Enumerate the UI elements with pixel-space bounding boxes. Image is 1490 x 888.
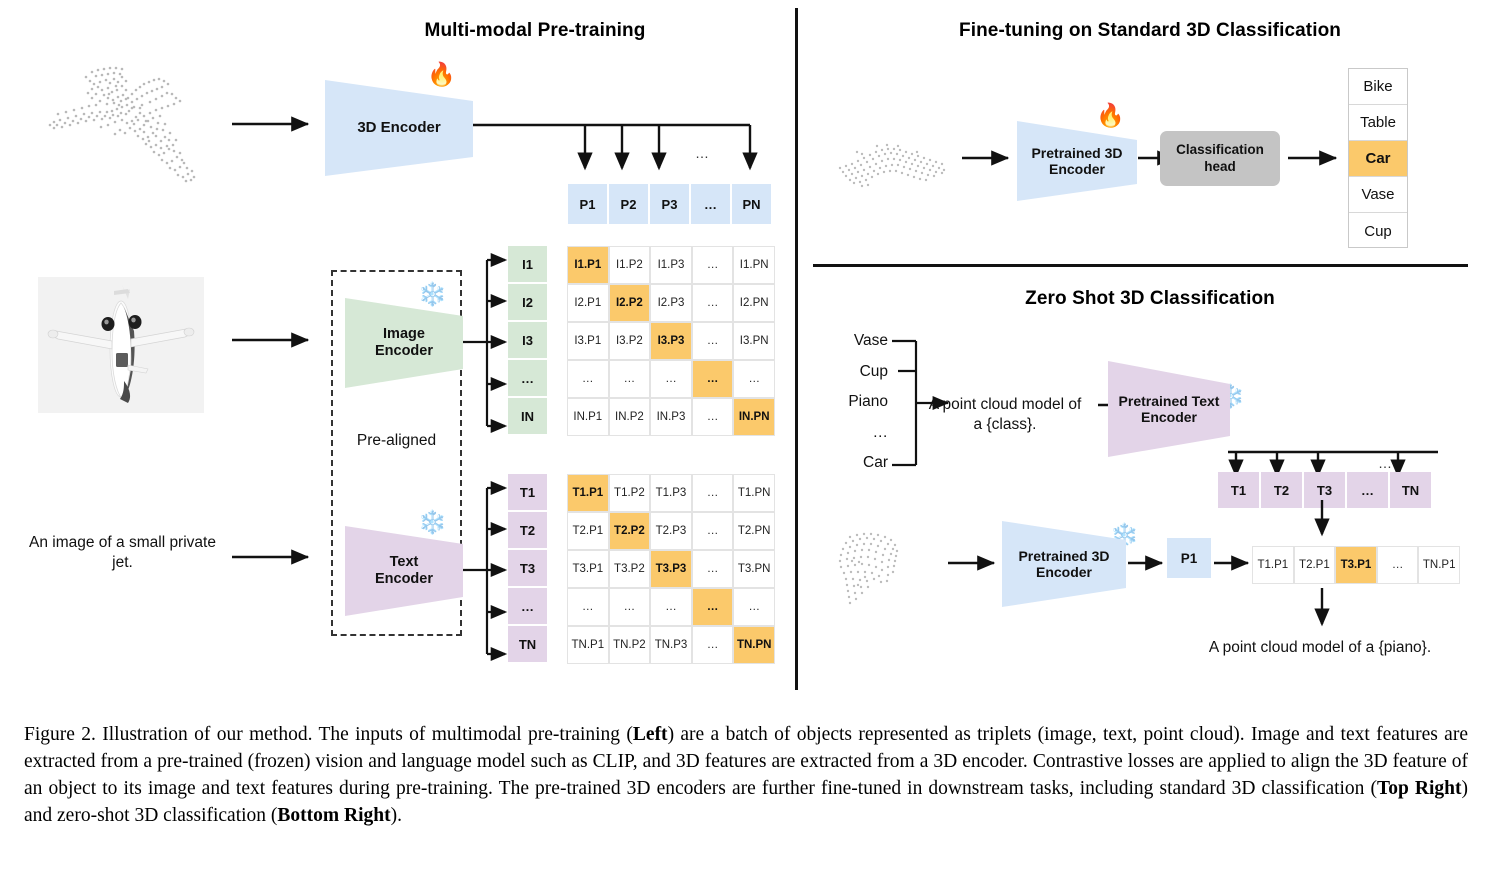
text-feature-4: … [508, 588, 547, 624]
text-similarity-matrix: T1.P1T1.P2T1.P3…T1.PNT2.P1T2.P2T2.P3…T2.… [567, 474, 775, 664]
input-arrows-group [230, 60, 340, 620]
matrix-cell-r2-c5: I2.PN [733, 284, 775, 322]
zeroshot-sim-cell-1: T1.P1 [1252, 546, 1294, 584]
class-option-car[interactable]: Car [1349, 141, 1407, 177]
matrix-cell-r3-c1: I3.P1 [567, 322, 609, 360]
matrix-cell-r4-c3: … [650, 588, 692, 626]
encoder-pretrained-3d-zeroshot[interactable]: Pretrained 3D Encoder [1002, 518, 1126, 610]
zeroshot-class-1: Vase [854, 332, 888, 350]
text-feature-fanout [462, 478, 512, 668]
matrix-cell-r5-c3: TN.P3 [650, 626, 692, 664]
matrix-cell-r1-c4: … [692, 474, 734, 512]
zeroshot-arrow-1 [948, 553, 1004, 573]
encoder-text-pt-label-line1: Pretrained Text [1119, 393, 1220, 409]
zeroshot-result: A point cloud model of a {piano}. [1155, 638, 1485, 658]
p-feature-4: … [691, 184, 730, 224]
matrix-cell-r5-c4: … [692, 626, 734, 664]
piano-point-cloud [832, 525, 937, 610]
encoder-ft-label-line1: Pretrained 3D [1031, 145, 1122, 161]
caption-part-4: ). [391, 805, 402, 826]
matrix-cell-r4-c4: … [692, 360, 734, 398]
matrix-cell-r5-c2: TN.P2 [609, 626, 651, 664]
matrix-cell-r3-c5: I3.PN [733, 322, 775, 360]
text-feature-1: T1 [508, 474, 547, 510]
image-feature-column: I1I2I3…IN [508, 246, 547, 434]
matrix-cell-r3-c3: I3.P3 [650, 322, 692, 360]
p-feature-3: P3 [650, 184, 689, 224]
matrix-cell-r3-c4: … [692, 322, 734, 360]
zeroshot-class-names: VaseCupPiano…Car [826, 332, 888, 472]
matrix-cell-r1-c1: T1.P1 [567, 474, 609, 512]
p-feature-row: P1P2P3…PN [568, 184, 771, 224]
class-option-bike[interactable]: Bike [1349, 69, 1407, 105]
matrix-cell-r1-c5: I1.PN [733, 246, 775, 284]
image-feature-5: IN [508, 398, 547, 434]
matrix-cell-r2-c1: T2.P1 [567, 512, 609, 550]
classification-class-list[interactable]: BikeTableCarVaseCup [1348, 68, 1408, 248]
matrix-cell-r1-c5: T1.PN [733, 474, 775, 512]
image-feature-fanout [462, 250, 512, 440]
class-option-table[interactable]: Table [1349, 105, 1407, 141]
zeroshot-down-arrow-2 [1312, 588, 1332, 634]
matrix-cell-r3-c3: T3.P3 [650, 550, 692, 588]
image-feature-3: I3 [508, 322, 547, 358]
caption-bold-topright: Top Right [1377, 778, 1461, 799]
matrix-cell-r4-c1: … [567, 360, 609, 398]
top-right-arrow-3 [1288, 148, 1344, 168]
caption-bold-left: Left [633, 724, 668, 745]
matrix-cell-r1-c1: I1.P1 [567, 246, 609, 284]
matrix-cell-r5-c5: IN.PN [733, 398, 775, 436]
airplane-point-cloud [22, 50, 242, 210]
encoder-pretrained-3d-finetune[interactable]: Pretrained 3D Encoder [1017, 118, 1137, 204]
matrix-cell-r5-c4: … [692, 398, 734, 436]
zeroshot-prompt-template: A point cloud model of a {class}. [910, 395, 1100, 435]
zeroshot-sim-cell-5: TN.P1 [1418, 546, 1460, 584]
encoder-pretrained-text[interactable]: Pretrained Text Encoder [1108, 358, 1230, 460]
matrix-cell-r5-c3: IN.P3 [650, 398, 692, 436]
matrix-cell-r1-c3: T1.P3 [650, 474, 692, 512]
matrix-cell-r4-c3: … [650, 360, 692, 398]
classification-head-label-line2: head [1204, 159, 1236, 174]
zeroshot-class-5: Car [863, 454, 888, 472]
image-feature-4: … [508, 360, 547, 396]
t-feature-zs-2: T2 [1261, 472, 1302, 508]
encoder-image[interactable]: Image Encoder [345, 295, 463, 391]
p-feature-bus [470, 110, 770, 195]
matrix-cell-r2-c1: I2.P1 [567, 284, 609, 322]
matrix-cell-r2-c4: … [692, 284, 734, 322]
zeroshot-sim-cell-2: T2.P1 [1294, 546, 1336, 584]
p-bus-ellipsis: … [695, 145, 709, 161]
matrix-cell-r2-c4: … [692, 512, 734, 550]
t-feature-zs-1: T1 [1218, 472, 1259, 508]
text-feature-2: T2 [508, 512, 547, 548]
zeroshot-class-4: … [873, 424, 889, 442]
matrix-cell-r5-c2: IN.P2 [609, 398, 651, 436]
t-feature-zs-5: TN [1390, 472, 1431, 508]
figure-caption: Figure 2. Illustration of our method. Th… [24, 722, 1468, 830]
matrix-cell-r3-c2: I3.P2 [609, 322, 651, 360]
bottom-right-panel-title: Zero Shot 3D Classification [830, 288, 1470, 310]
zeroshot-sim-cell-4: … [1377, 546, 1419, 584]
class-option-vase[interactable]: Vase [1349, 177, 1407, 213]
matrix-cell-r3-c2: T3.P2 [609, 550, 651, 588]
class-option-cup[interactable]: Cup [1349, 213, 1407, 249]
p-feature-1: P1 [568, 184, 607, 224]
encoder-image-label-line1: Image [383, 326, 425, 342]
top-right-panel-title: Fine-tuning on Standard 3D Classificatio… [830, 20, 1470, 42]
prompt-line1: A point cloud model of [929, 396, 1082, 413]
matrix-cell-r4-c5: … [733, 588, 775, 626]
encoder-3d-zs-label-line1: Pretrained 3D [1018, 548, 1109, 564]
pre-aligned-label: Pre-aligned [331, 431, 462, 451]
matrix-cell-r5-c1: TN.P1 [567, 626, 609, 664]
encoder-text[interactable]: Text Encoder [345, 523, 463, 619]
encoder-image-label-line2: Encoder [375, 343, 433, 359]
zeroshot-down-arrow-1 [1312, 500, 1332, 544]
classification-head-label-line1: Classification [1176, 142, 1264, 157]
image-similarity-matrix: I1.P1I1.P2I1.P3…I1.PNI2.P1I2.P2I2.P3…I2.… [567, 246, 775, 436]
t-feature-zs-4: … [1347, 472, 1388, 508]
airplane-rendered-image [38, 277, 204, 413]
classification-head[interactable]: Classification head [1160, 131, 1280, 186]
text-feature-3: T3 [508, 550, 547, 586]
matrix-cell-r1-c2: T1.P2 [609, 474, 651, 512]
matrix-cell-r3-c4: … [692, 550, 734, 588]
panel-horizontal-divider [813, 264, 1468, 267]
top-right-arrow-1 [962, 148, 1018, 168]
matrix-cell-r4-c2: … [609, 588, 651, 626]
image-feature-1: I1 [508, 246, 547, 282]
encoder-text-label-line1: Text [390, 554, 419, 570]
matrix-cell-r3-c5: T3.PN [733, 550, 775, 588]
caption-part-1: Figure 2. Illustration of our method. Th… [24, 724, 633, 745]
matrix-cell-r2-c3: T2.P3 [650, 512, 692, 550]
matrix-cell-r1-c2: I1.P2 [609, 246, 651, 284]
left-panel-title: Multi-modal Pre-training [285, 20, 785, 42]
text-feature-5: TN [508, 626, 547, 662]
encoder-ft-label-line2: Encoder [1049, 161, 1105, 177]
panel-vertical-divider [795, 8, 798, 690]
zeroshot-arrow-2 [1128, 553, 1172, 573]
p-feature-5: PN [732, 184, 771, 224]
encoder-3d-label: 3D Encoder [357, 119, 440, 136]
text-feature-column: T1T2T3…TN [508, 474, 547, 662]
matrix-cell-r1-c3: I1.P3 [650, 246, 692, 284]
p1-feature-box: P1 [1167, 538, 1211, 578]
matrix-cell-r5-c1: IN.P1 [567, 398, 609, 436]
p-feature-2: P2 [609, 184, 648, 224]
caption-bold-bottomright: Bottom Right [277, 805, 390, 826]
matrix-cell-r1-c4: … [692, 246, 734, 284]
matrix-cell-r4-c1: … [567, 588, 609, 626]
encoder-3d[interactable]: 3D Encoder [325, 77, 473, 179]
t-bus-ellipsis: … [1378, 455, 1392, 471]
zeroshot-class-3: Piano [848, 393, 888, 411]
matrix-cell-r4-c4: … [692, 588, 734, 626]
encoder-text-label-line2: Encoder [375, 571, 433, 587]
zeroshot-sim-cell-3: T3.P1 [1335, 546, 1377, 584]
zeroshot-class-2: Cup [860, 363, 888, 381]
matrix-cell-r4-c2: … [609, 360, 651, 398]
matrix-cell-r2-c5: T2.PN [733, 512, 775, 550]
image-feature-2: I2 [508, 284, 547, 320]
matrix-cell-r4-c5: … [733, 360, 775, 398]
input-text-caption: An image of a small private jet. [20, 533, 225, 573]
matrix-cell-r2-c2: I2.P2 [609, 284, 651, 322]
matrix-cell-r5-c5: TN.PN [733, 626, 775, 664]
encoder-3d-zs-label-line2: Encoder [1036, 564, 1092, 580]
prompt-line2: a {class}. [974, 416, 1037, 433]
encoder-text-pt-label-line2: Encoder [1141, 409, 1197, 425]
car-point-cloud [832, 130, 952, 190]
matrix-cell-r3-c1: T3.P1 [567, 550, 609, 588]
matrix-cell-r2-c3: I2.P3 [650, 284, 692, 322]
matrix-cell-r2-c2: T2.P2 [609, 512, 651, 550]
zeroshot-similarity-row: T1.P1T2.P1T3.P1…TN.P1 [1252, 546, 1460, 584]
